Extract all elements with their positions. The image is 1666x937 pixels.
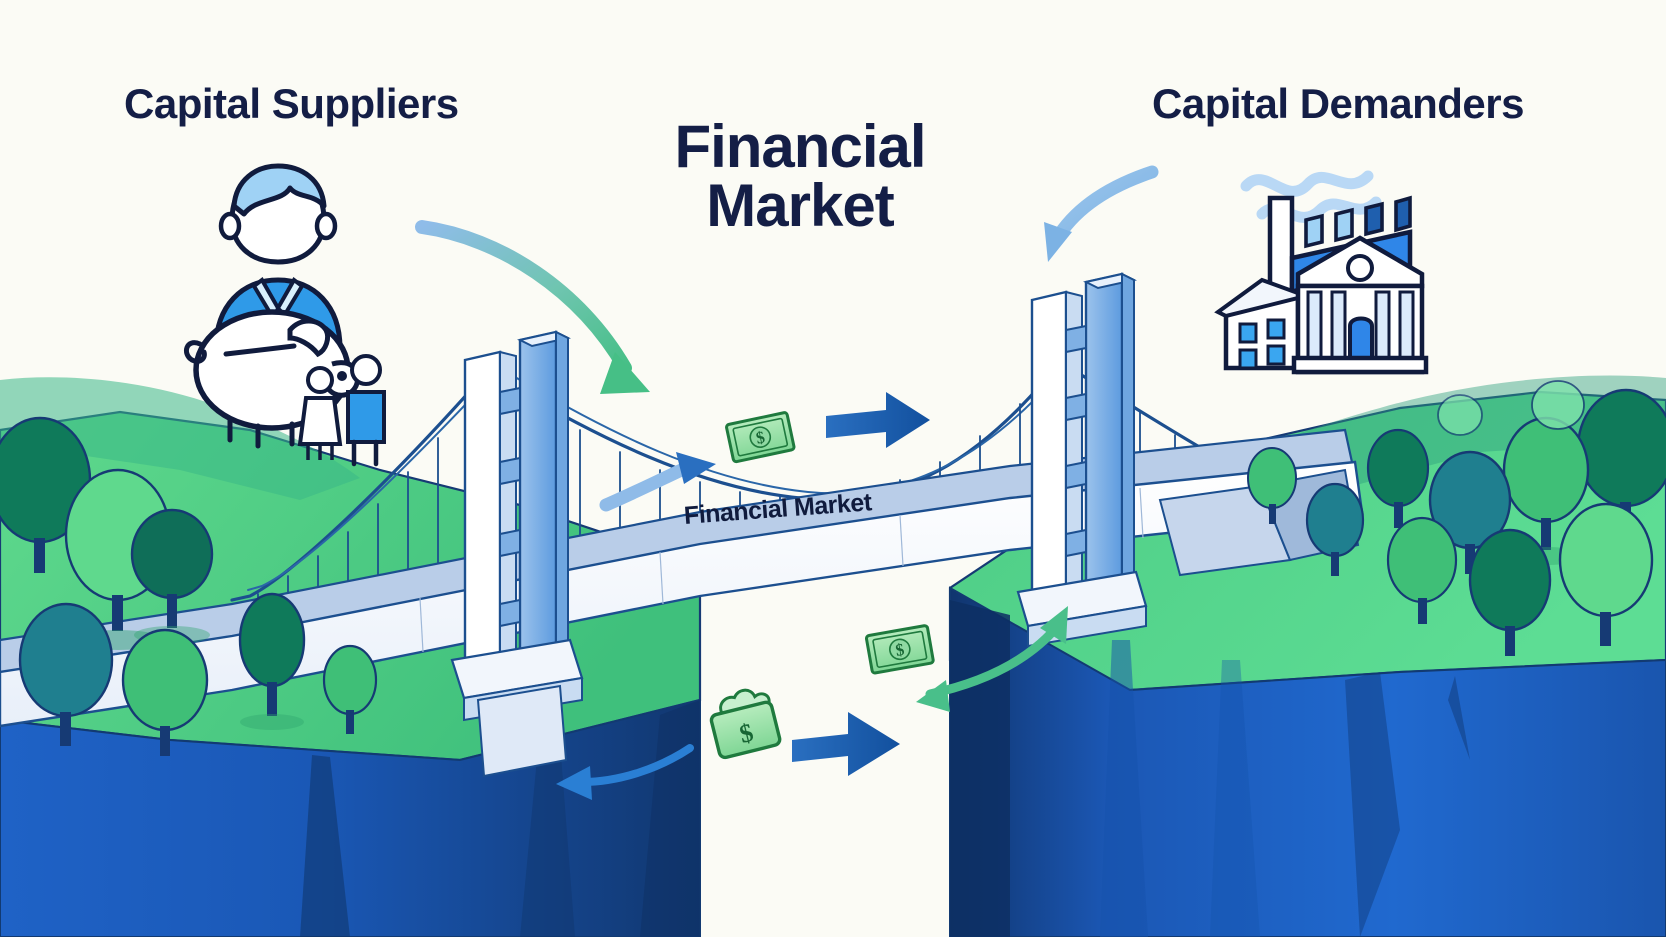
- page-title-line-2: Market: [640, 177, 960, 236]
- page-title: Financial Market: [640, 118, 960, 236]
- annex-window-3: [1240, 350, 1256, 368]
- tower-left-side: [556, 332, 568, 648]
- page-title-line-1: Financial: [640, 118, 960, 177]
- illustration-canvas: $ $ $: [0, 0, 1666, 937]
- bridge-tower-right: [1018, 274, 1146, 646]
- tower-left-pylon-front: [520, 332, 556, 656]
- family-adult-head: [352, 356, 380, 384]
- person-ear-right: [317, 214, 335, 238]
- family-child-body: [300, 398, 340, 444]
- tower-right-pylon-back: [1032, 292, 1066, 598]
- bank-base: [1294, 358, 1426, 372]
- factory-vent-1: [1306, 216, 1322, 246]
- tower-right-pylon-front: [1086, 274, 1122, 588]
- tower-left-pier: [478, 686, 566, 776]
- tree: [1532, 381, 1584, 429]
- tower-right-side: [1122, 274, 1134, 580]
- bank-pediment-oculus: [1348, 256, 1372, 280]
- family-adult-body: [348, 392, 384, 442]
- family-child-head: [308, 368, 332, 392]
- annex-window-1: [1240, 324, 1256, 342]
- factory-vent-4: [1396, 198, 1410, 230]
- factory-vent-3: [1366, 204, 1382, 234]
- bank-door: [1350, 319, 1372, 359]
- person-ear-left: [221, 214, 239, 238]
- piggy-nostril: [337, 371, 347, 381]
- label-capital-suppliers: Capital Suppliers: [124, 80, 459, 128]
- right-cliff-shadow: [950, 600, 1010, 937]
- factory-vent-2: [1336, 210, 1352, 240]
- label-capital-demanders: Capital Demanders: [1152, 80, 1524, 128]
- annex-window-2: [1268, 320, 1284, 338]
- annex-window-4: [1268, 346, 1284, 364]
- tower-left-pylon-back: [465, 352, 500, 668]
- tree: [1438, 395, 1482, 435]
- bridge-tower-left: [452, 332, 582, 776]
